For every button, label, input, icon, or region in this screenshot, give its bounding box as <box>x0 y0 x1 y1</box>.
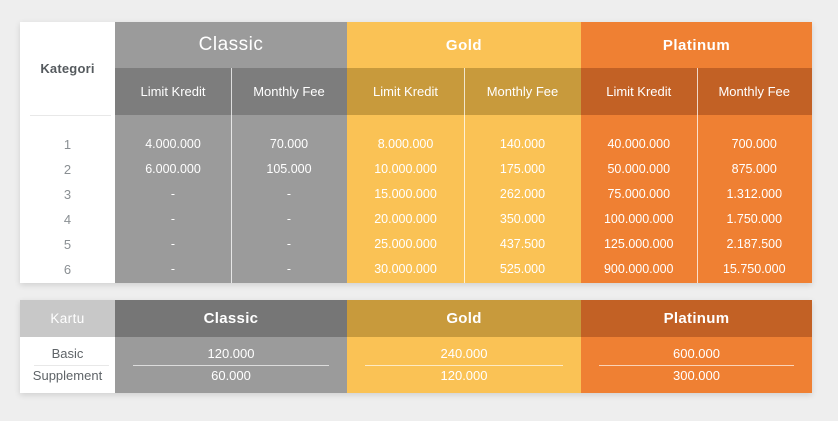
limit-and-fee-table-card: Kategori 1 2 3 4 5 6 Classic Limit Kredi… <box>20 22 812 283</box>
table-cell: 15.750.000 <box>697 257 813 282</box>
table-cell: 60.000 <box>115 365 347 387</box>
kategori-header: Kategori <box>20 22 115 115</box>
table-cell: 40.000.000 <box>581 132 697 157</box>
row-label-basic: Basic <box>20 343 115 365</box>
kartu-header: Kartu <box>20 300 115 337</box>
fee-tier-body-gold: 240.000 120.000 <box>347 337 581 393</box>
monthly-fee-column-classic: 70.000 105.000 - - - - <box>231 132 347 283</box>
table-cell: 120.000 <box>115 343 347 365</box>
table-cell: - <box>115 182 231 207</box>
table-cell: 15.000.000 <box>347 182 464 207</box>
kartu-row-labels: Basic Supplement <box>20 337 115 393</box>
table-cell: - <box>115 257 231 282</box>
table-cell: 875.000 <box>697 157 813 182</box>
row-divider <box>133 365 329 366</box>
fee-tier-title-gold: Gold <box>347 300 581 337</box>
table-cell: 140.000 <box>464 132 581 157</box>
table-cell: 6.000.000 <box>115 157 231 182</box>
fee-column-classic: Classic 120.000 60.000 <box>115 300 347 393</box>
subheader-limit-kredit: Limit Kredit <box>347 68 464 115</box>
table-cell: 100.000.000 <box>581 207 697 232</box>
fee-column-gold: Gold 240.000 120.000 <box>347 300 581 393</box>
kategori-cell: 3 <box>20 182 115 207</box>
limit-kredit-column-classic: 4.000.000 6.000.000 - - - - <box>115 132 231 283</box>
table-cell: 700.000 <box>697 132 813 157</box>
limit-kredit-column-gold: 8.000.000 10.000.000 15.000.000 20.000.0… <box>347 132 464 283</box>
subheader-monthly-fee: Monthly Fee <box>231 68 347 115</box>
tier-title-platinum: Platinum <box>581 22 812 68</box>
table-cell: 1.312.000 <box>697 182 813 207</box>
table-cell: 4.000.000 <box>115 132 231 157</box>
subheader-monthly-fee: Monthly Fee <box>697 68 813 115</box>
row-divider <box>34 365 109 366</box>
table-cell: 262.000 <box>464 182 581 207</box>
table-cell: 2.187.500 <box>697 232 813 257</box>
table-cell: - <box>115 232 231 257</box>
kategori-cell: 1 <box>20 132 115 157</box>
kategori-cell: 5 <box>20 232 115 257</box>
table-cell: - <box>231 232 347 257</box>
table-cell: 175.000 <box>464 157 581 182</box>
table-cell: 30.000.000 <box>347 257 464 282</box>
kategori-column: Kategori 1 2 3 4 5 6 <box>20 22 115 283</box>
table-cell: 900.000.000 <box>581 257 697 282</box>
table-cell: 20.000.000 <box>347 207 464 232</box>
kategori-cell: 6 <box>20 257 115 282</box>
column-divider <box>231 68 232 283</box>
tier-title-classic: Classic <box>115 22 347 68</box>
table-cell: 120.000 <box>347 365 581 387</box>
table-cell: - <box>231 207 347 232</box>
row-divider <box>599 365 794 366</box>
table-cell: 25.000.000 <box>347 232 464 257</box>
fee-tier-title-classic: Classic <box>115 300 347 337</box>
row-label-supplement: Supplement <box>20 365 115 387</box>
table-cell: 350.000 <box>464 207 581 232</box>
tier-column-gold: Gold Limit Kredit Monthly Fee 8.000.000 … <box>347 22 581 283</box>
table-cell: 105.000 <box>231 157 347 182</box>
table-cell: 70.000 <box>231 132 347 157</box>
kartu-column: Kartu Basic Supplement <box>20 300 115 393</box>
subheader-limit-kredit: Limit Kredit <box>115 68 231 115</box>
monthly-fee-column-gold: 140.000 175.000 262.000 350.000 437.500 … <box>464 132 581 283</box>
card-annual-fee-table-card: Kartu Basic Supplement Classic 120.000 6… <box>20 300 812 393</box>
table-cell: 50.000.000 <box>581 157 697 182</box>
table-cell: 300.000 <box>581 365 812 387</box>
table-cell: - <box>231 182 347 207</box>
table-cell: 600.000 <box>581 343 812 365</box>
kategori-values: 1 2 3 4 5 6 <box>20 115 115 283</box>
column-divider <box>464 68 465 283</box>
table-cell: 10.000.000 <box>347 157 464 182</box>
tier-column-platinum: Platinum Limit Kredit Monthly Fee 40.000… <box>581 22 812 283</box>
kategori-cell: 4 <box>20 207 115 232</box>
tier-column-classic: Classic Limit Kredit Monthly Fee 4.000.0… <box>115 22 347 283</box>
table-cell: 75.000.000 <box>581 182 697 207</box>
subheader-monthly-fee: Monthly Fee <box>464 68 581 115</box>
fee-tier-body-platinum: 600.000 300.000 <box>581 337 812 393</box>
subheader-limit-kredit: Limit Kredit <box>581 68 697 115</box>
table-cell: 125.000.000 <box>581 232 697 257</box>
fee-tier-body-classic: 120.000 60.000 <box>115 337 347 393</box>
table-cell: 1.750.000 <box>697 207 813 232</box>
table-cell: 437.500 <box>464 232 581 257</box>
table-cell: - <box>231 257 347 282</box>
table-cell: 240.000 <box>347 343 581 365</box>
tier-title-gold: Gold <box>347 22 581 68</box>
monthly-fee-column-platinum: 700.000 875.000 1.312.000 1.750.000 2.18… <box>697 132 813 283</box>
table-cell: 8.000.000 <box>347 132 464 157</box>
limit-kredit-column-platinum: 40.000.000 50.000.000 75.000.000 100.000… <box>581 132 697 283</box>
fee-tier-title-platinum: Platinum <box>581 300 812 337</box>
column-divider <box>697 68 698 283</box>
row-divider <box>365 365 563 366</box>
table-cell: - <box>115 207 231 232</box>
table-cell: 525.000 <box>464 257 581 282</box>
fee-column-platinum: Platinum 600.000 300.000 <box>581 300 812 393</box>
kategori-cell: 2 <box>20 157 115 182</box>
